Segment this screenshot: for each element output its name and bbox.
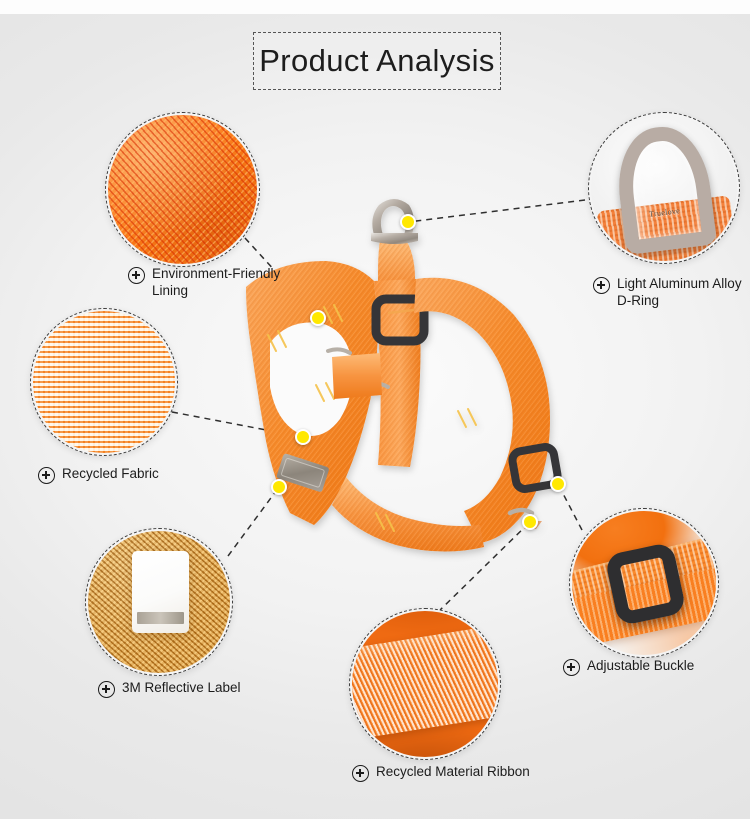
- plus-circle-icon: [352, 765, 369, 782]
- label-light-aluminum-alloy-d-ring: Light Aluminum Alloy D-Ring: [593, 276, 750, 309]
- d-ring-metal-loop: [612, 122, 717, 255]
- marker-dot-recycled-fabric: [295, 429, 311, 445]
- label-text: Light Aluminum Alloy D-Ring: [617, 276, 742, 309]
- label-text: Adjustable Buckle: [587, 658, 694, 675]
- label-text: 3M Reflective Label: [122, 680, 241, 697]
- page-title: Product Analysis: [259, 43, 495, 79]
- reflective-silver-bar: [137, 612, 185, 624]
- top-white-strip: [0, 0, 750, 14]
- callout-circle-3m-label: [85, 528, 233, 676]
- reflective-patch-photo-icon: [88, 531, 230, 673]
- label-3m-reflective-label: 3M Reflective Label: [98, 680, 298, 698]
- label-environment-friendly-lining: Environment-Friendly Lining: [128, 266, 308, 299]
- plus-circle-icon: [128, 267, 145, 284]
- callout-circle-buckle: [569, 508, 719, 658]
- callout-circle-d-ring: Truelove: [588, 112, 740, 264]
- marker-dot-lining: [310, 310, 326, 326]
- d-ring-photo-icon: Truelove: [591, 115, 737, 261]
- label-adjustable-buckle: Adjustable Buckle: [563, 658, 750, 676]
- plus-circle-icon: [98, 681, 115, 698]
- product-analysis-infographic: Product Analysis Truelove: [0, 0, 750, 819]
- label-recycled-fabric: Recycled Fabric: [38, 466, 218, 484]
- marker-dot-d-ring: [400, 214, 416, 230]
- plus-circle-icon: [38, 467, 55, 484]
- marker-dot-ribbon: [522, 514, 538, 530]
- plus-circle-icon: [593, 277, 610, 294]
- label-text: Environment-Friendly Lining: [152, 266, 280, 299]
- webbing-ribbon-photo-icon: [352, 611, 498, 757]
- buckle-black-frame: [604, 542, 687, 627]
- page-title-box: Product Analysis: [253, 32, 501, 90]
- reflective-white-patch: [132, 551, 189, 633]
- marker-dot-3m-label: [271, 479, 287, 495]
- label-recycled-material-ribbon: Recycled Material Ribbon: [352, 764, 592, 782]
- plus-circle-icon: [563, 659, 580, 676]
- ribbon-webbing-band: [352, 624, 498, 742]
- woven-fabric-swatch-icon: [33, 311, 175, 453]
- label-text: Recycled Material Ribbon: [376, 764, 530, 781]
- harness-girth-strap-left: [332, 353, 382, 399]
- marker-dot-buckle: [550, 476, 566, 492]
- callout-circle-ribbon: [349, 608, 501, 760]
- callout-circle-recycled-fabric: [30, 308, 178, 456]
- slider-buckle-photo-icon: [572, 511, 716, 655]
- label-text: Recycled Fabric: [62, 466, 159, 483]
